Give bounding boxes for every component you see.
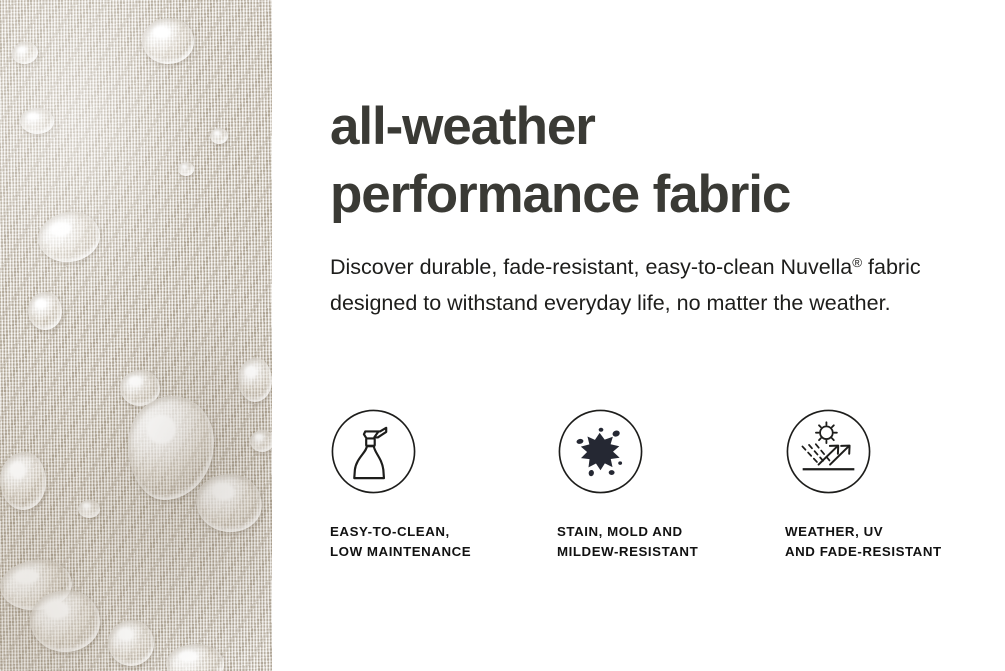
subcopy-paragraph: Discover durable, fade-resistant, easy-t… [330,245,950,321]
page-title: all-weather performance fabric [330,93,790,229]
subcopy-line-3: no matter the weather. [677,291,891,315]
fabric-photo-shading [0,0,272,671]
banner-content: all-weather performance fabric Discover … [330,0,990,671]
spray-bottle-icon [330,408,417,495]
feature-label: WEATHER, UV AND FADE-RESISTANT [785,522,985,562]
brand-name: Nuvella [781,255,853,279]
registered-trademark-symbol: ® [852,255,862,270]
feature-item-stain-resistant: STAIN, MOLD AND MILDEW-RESISTANT [557,408,757,562]
feature-item-weather-resistant: WEATHER, UV AND FADE-RESISTANT [785,408,985,562]
sun-uv-reflect-icon [785,408,872,495]
all-weather-fabric-banner: all-weather performance fabric Discover … [0,0,1005,671]
feature-item-easy-to-clean: EASY-TO-CLEAN, LOW MAINTENANCE [330,408,530,562]
feature-label: STAIN, MOLD AND MILDEW-RESISTANT [557,522,757,562]
feature-label: EASY-TO-CLEAN, LOW MAINTENANCE [330,522,530,562]
stain-splat-icon [557,408,644,495]
fabric-photo [0,0,272,671]
subcopy-line-1: Discover durable, fade-resistant, easy-t… [330,255,775,279]
